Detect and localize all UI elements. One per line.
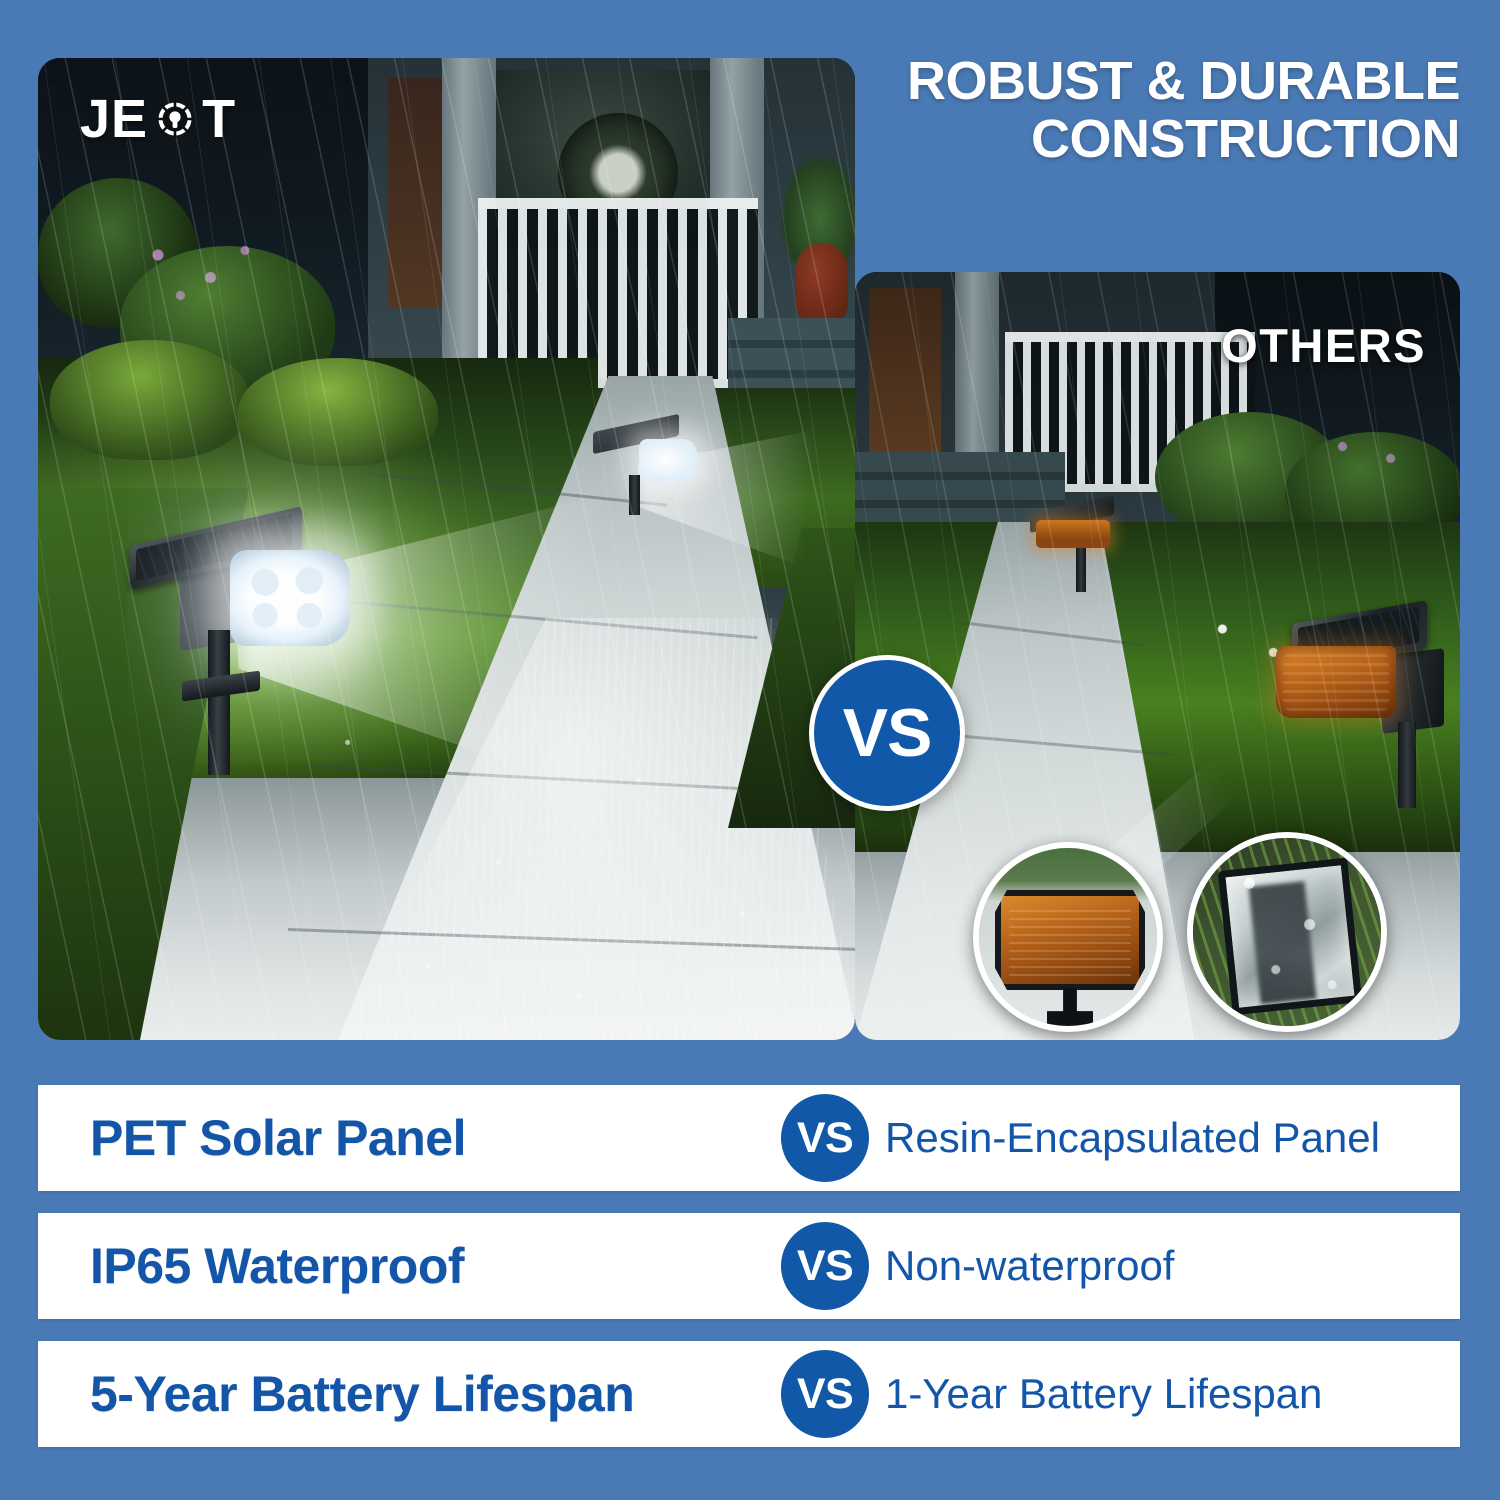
- vs-badge-main: VS: [809, 655, 965, 811]
- panel-others-photo: OTHERS: [855, 272, 1460, 1040]
- feature-ours: IP65 Waterproof: [38, 1237, 773, 1295]
- amber-led-head: [1036, 520, 1110, 548]
- ground-stake: [1398, 722, 1416, 808]
- vs-badge-row: VS: [777, 1090, 873, 1186]
- ground-stake: [1076, 548, 1086, 592]
- shrub-front: [238, 358, 438, 466]
- front-door: [869, 288, 941, 458]
- frost-speckles: [1193, 838, 1381, 1026]
- terracotta-vase: [796, 243, 848, 323]
- competitor-light-primary: [1270, 612, 1460, 812]
- others-label: OTHERS: [1221, 318, 1426, 373]
- feature-ours: PET Solar Panel: [38, 1109, 773, 1167]
- purple-flowers: [128, 228, 278, 318]
- shrub-mid: [50, 340, 250, 460]
- feature-theirs: 1-Year Battery Lifespan: [773, 1370, 1460, 1418]
- ground-stake: [208, 630, 230, 775]
- sun-bulb-icon: [150, 94, 200, 144]
- inset-frosted-damaged-panel: [1187, 832, 1387, 1032]
- led-head: [639, 439, 697, 481]
- competitor-light-secondary: [1030, 504, 1150, 594]
- comparison-rows: PET Solar Panel VS Resin-Encapsulated Pa…: [38, 1085, 1460, 1469]
- led-array-icon: [242, 562, 338, 634]
- purple-flowers: [1310, 422, 1440, 492]
- brand-logo: JET: [80, 88, 236, 150]
- feature-theirs: Non-waterproof: [773, 1242, 1460, 1290]
- vs-badge-row: VS: [777, 1346, 873, 1442]
- comparison-row: PET Solar Panel VS Resin-Encapsulated Pa…: [38, 1085, 1460, 1191]
- panel-jejot-photo: JET: [38, 58, 855, 1040]
- comparison-row: IP65 Waterproof VS Non-waterproof: [38, 1213, 1460, 1319]
- brand-name-part2: T: [202, 88, 236, 150]
- amber-corroded-head: [1276, 646, 1396, 718]
- feature-theirs: Resin-Encapsulated Panel: [773, 1114, 1460, 1162]
- feature-ours: 5-Year Battery Lifespan: [38, 1365, 773, 1423]
- inset-corroded-resin-panel: [973, 842, 1163, 1032]
- comparison-row: 5-Year Battery Lifespan VS 1-Year Batter…: [38, 1341, 1460, 1447]
- comparison-photo-area: JET: [38, 58, 1460, 1040]
- brand-name-part1: JE: [80, 88, 148, 150]
- vs-badge-row: VS: [777, 1218, 873, 1314]
- corroded-amber-panel: [995, 890, 1145, 990]
- rain-droplets: [278, 668, 855, 1040]
